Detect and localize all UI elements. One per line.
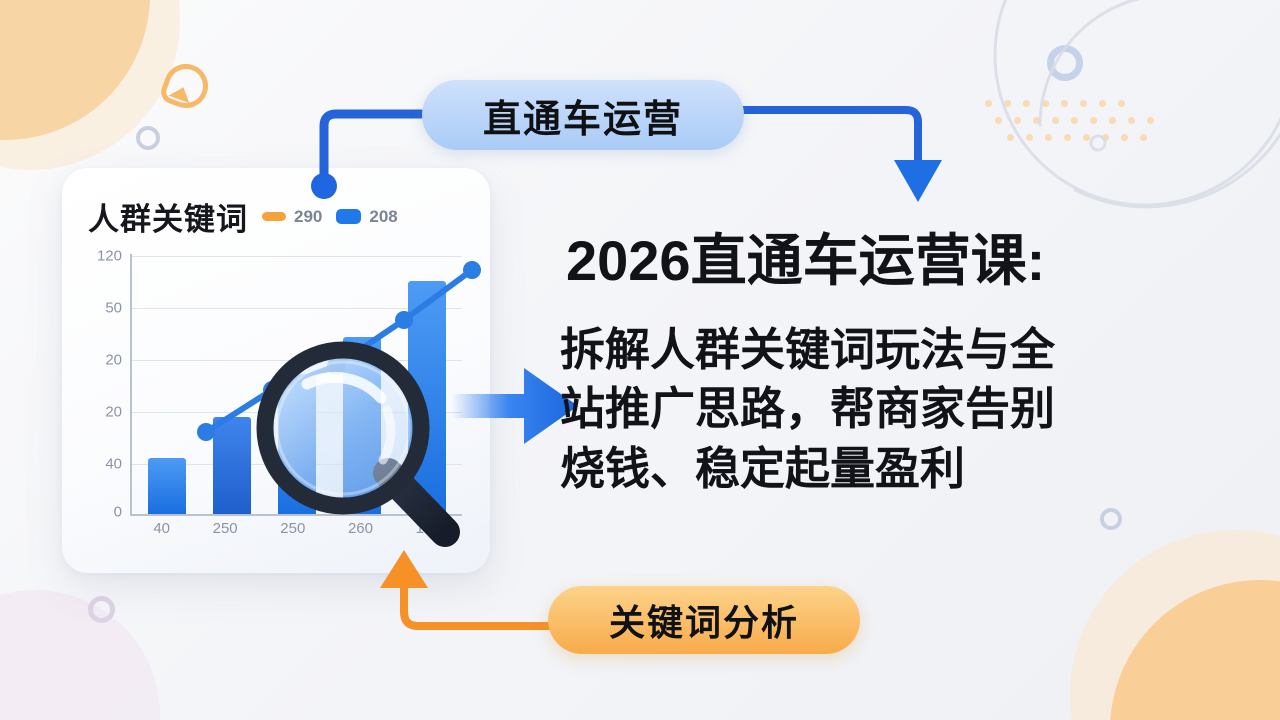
- y-axis-tick: 50: [105, 300, 122, 317]
- y-axis-tick: 120: [97, 248, 122, 265]
- legend-line-swatch: [262, 212, 286, 221]
- legend-bar-swatch: [336, 209, 361, 224]
- ring-outline-icon: [136, 126, 160, 150]
- y-axis-tick: 40: [105, 456, 122, 473]
- orange-circle-bottom-right: [1110, 580, 1280, 720]
- y-axis-tick: 20: [105, 352, 122, 369]
- x-axis-tick: 250: [213, 520, 238, 537]
- x-axis-tick: 40: [153, 520, 170, 537]
- ring-outline-icon: [1100, 508, 1122, 530]
- leaf-outline-icon: [158, 58, 214, 114]
- legend-item-line: 290: [262, 207, 322, 227]
- badge-top[interactable]: 直通车运营: [422, 80, 744, 150]
- magnifier-icon: [255, 340, 485, 570]
- y-axis-tick: 0: [114, 504, 122, 521]
- y-axis-tick: 20: [105, 404, 122, 421]
- poster-canvas: 人群关键词 290 208 120 50 20 20 40 0: [0, 0, 1280, 720]
- subtitle-line: 站推广思路，帮商家告别: [560, 379, 1236, 438]
- chart-header: 人群关键词 290 208: [88, 194, 472, 239]
- connector-arrow-to-headline: [736, 96, 946, 206]
- orange-circle-top-left: [0, 0, 150, 140]
- dot-grid-decoration: [985, 100, 1165, 160]
- legend-item-bar: 208: [336, 207, 397, 227]
- orange-circle-top-left-halo: [0, 0, 180, 170]
- subtitle-block: 拆解人群关键词玩法与全 站推广思路，帮商家告别 烧钱、稳定起量盈利: [560, 320, 1236, 498]
- subtitle-line: 烧钱、稳定起量盈利: [560, 439, 1236, 498]
- ring-outline-icon: [1047, 45, 1083, 81]
- orange-circle-bottom-right-halo: [1070, 530, 1280, 720]
- y-axis: 120 50 20 20 40 0: [86, 254, 122, 514]
- subtitle-line: 拆解人群关键词玩法与全: [560, 320, 1236, 379]
- violet-circle-bottom-left: [0, 590, 160, 720]
- ring-outline-icon: [88, 596, 115, 623]
- legend-bar-label: 208: [369, 207, 397, 227]
- connector-arrow-to-chart: [352, 556, 582, 656]
- chart-title: 人群关键词: [88, 194, 248, 239]
- badge-bottom[interactable]: 关键词分析: [548, 586, 860, 654]
- legend-line-label: 290: [294, 207, 322, 227]
- page-title: 2026直通车运营课:: [566, 216, 1045, 297]
